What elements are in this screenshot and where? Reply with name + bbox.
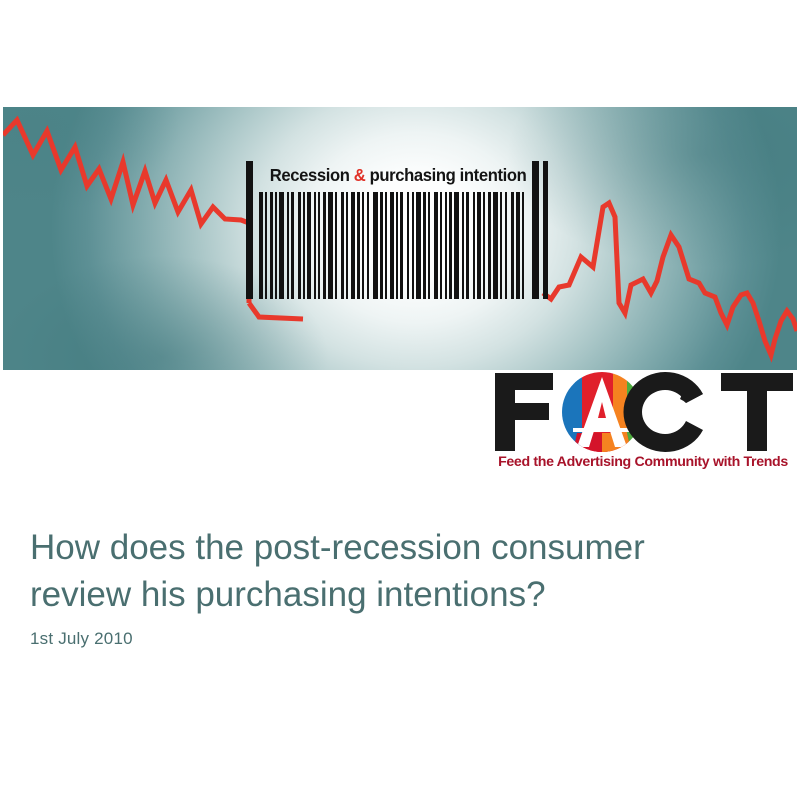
- barcode-bar: [346, 192, 348, 299]
- barcode-bar: [423, 192, 426, 299]
- barcode-bar: [362, 192, 364, 299]
- barcode-guard-bar-left: [246, 161, 253, 299]
- barcode-bar: [287, 192, 289, 299]
- barcode-bar: [380, 192, 383, 299]
- barcode-bar: [477, 192, 481, 299]
- barcode-bar: [351, 192, 355, 299]
- barcode-bar: [275, 192, 277, 299]
- barcode-bar: [516, 192, 520, 299]
- barcode-bar: [307, 192, 311, 299]
- barcode-title-text: Recession & purchasing intention: [270, 165, 527, 186]
- barcode-bar: [500, 192, 502, 299]
- barcode-bar: [488, 192, 491, 299]
- barcode-bar: [462, 192, 464, 299]
- barcode-bar: [522, 192, 524, 299]
- barcode-bar: [412, 192, 414, 299]
- barcode-bar: [265, 192, 267, 299]
- barcode-bar: [400, 192, 403, 299]
- barcode-title-suffix: purchasing intention: [365, 165, 526, 185]
- barcode-bar: [259, 192, 263, 299]
- barcode-bar: [367, 192, 369, 299]
- page-title: How does the post-recession consumer rev…: [30, 524, 770, 618]
- barcode-bar: [270, 192, 273, 299]
- barcode-bar: [335, 192, 337, 299]
- barcode-bar: [511, 192, 514, 299]
- fact-letter-f-icon: [495, 373, 553, 451]
- fact-letter-c-icon: [623, 372, 703, 452]
- barcode-bar: [314, 192, 316, 299]
- barcode-bar: [505, 192, 507, 299]
- fact-tagline: Feed the Advertising Community with Tren…: [489, 454, 797, 470]
- barcode-bar: [445, 192, 447, 299]
- barcode-bar: [303, 192, 305, 299]
- fact-wordmark: [489, 371, 797, 453]
- barcode-bar: [385, 192, 387, 299]
- barcode-bar: [440, 192, 442, 299]
- barcode-bar: [279, 192, 284, 299]
- barcode-bar: [466, 192, 469, 299]
- barcode-bar: [341, 192, 344, 299]
- barcode-bar: [390, 192, 394, 299]
- barcode-guard-bar-right-edge: [543, 161, 548, 299]
- recession-banner: Recession & purchasing intention: [3, 107, 797, 370]
- trendline-path: [3, 120, 249, 303]
- page-title-line-2: review his purchasing intentions?: [30, 571, 770, 618]
- barcode-title-prefix: Recession: [270, 165, 354, 185]
- barcode-bar: [373, 192, 378, 299]
- barcode-bar: [318, 192, 320, 299]
- barcode-bar: [428, 192, 430, 299]
- barcode-title-ampersand: &: [354, 165, 366, 185]
- barcode-bar: [407, 192, 409, 299]
- barcode-bar: [473, 192, 475, 299]
- fact-logo: Feed the Advertising Community with Tren…: [489, 371, 797, 475]
- barcode-bar: [298, 192, 301, 299]
- page-date: 1st July 2010: [30, 629, 133, 649]
- barcode-bar: [454, 192, 459, 299]
- barcode-graphic: Recession & purchasing intention: [243, 160, 553, 300]
- barcode-bar: [483, 192, 485, 299]
- barcode-bar: [416, 192, 421, 299]
- trendline-path-mid: [249, 303, 303, 319]
- barcode-bar: [493, 192, 498, 299]
- page-title-line-1: How does the post-recession consumer: [30, 524, 770, 571]
- barcode-bar: [434, 192, 438, 299]
- barcode-bar: [449, 192, 452, 299]
- barcode-bar: [396, 192, 398, 299]
- barcode-bar: [323, 192, 326, 299]
- barcode-bars: [259, 192, 527, 299]
- fact-letter-t-icon: [721, 373, 793, 451]
- barcode-bar: [291, 192, 294, 299]
- trendline-path-right: [543, 203, 797, 355]
- barcode-bar: [328, 192, 333, 299]
- barcode-guard-bar-right-outer: [532, 161, 539, 299]
- barcode-title: Recession & purchasing intention: [257, 160, 539, 190]
- barcode-bar: [357, 192, 360, 299]
